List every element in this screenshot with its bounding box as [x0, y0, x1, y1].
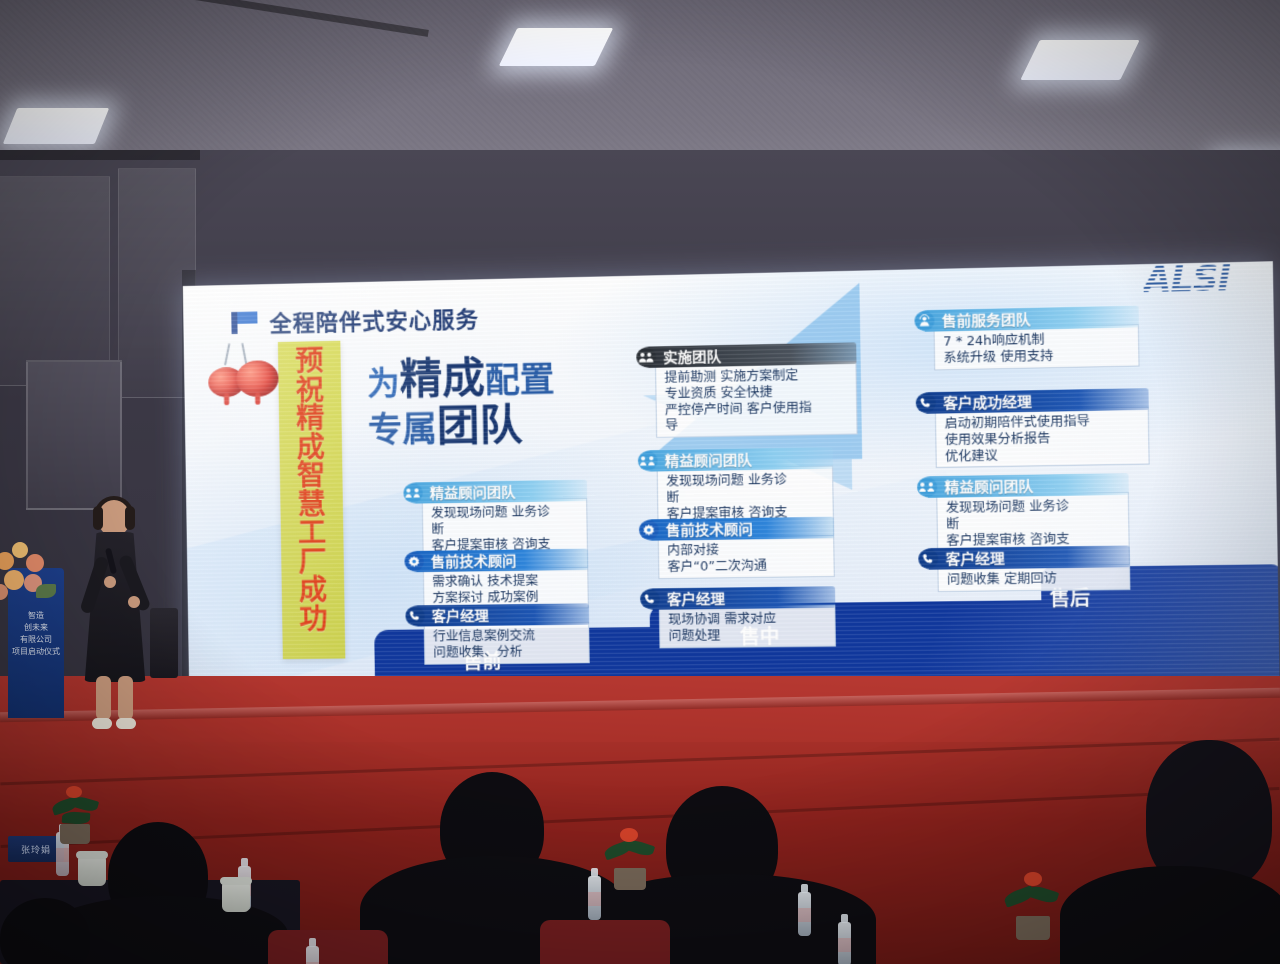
potted-plant — [600, 824, 660, 892]
plant-pot — [60, 824, 90, 844]
water-bottle — [306, 946, 319, 964]
water-bottle — [798, 892, 811, 936]
potted-plant — [48, 782, 104, 842]
plant-bloom — [1024, 872, 1042, 886]
tea-cup — [78, 856, 106, 886]
conference-photo-scene: 全程陪伴式安心服务 ALSI 预祝精成智慧工厂成功 为精成配置 专属团队 — [0, 0, 1280, 964]
audience-shoulders — [1060, 866, 1280, 964]
water-bottle — [588, 876, 601, 920]
audience-chair — [268, 930, 388, 964]
water-bottle — [838, 922, 851, 964]
tea-cup — [222, 882, 250, 912]
audience-chair — [540, 920, 670, 964]
plant-pot — [614, 868, 646, 890]
name-placard-text: 张玲娟 — [21, 843, 51, 856]
plant-bloom — [66, 786, 82, 798]
plant-leaf — [62, 811, 91, 825]
audience-foreground: 张玲娟 — [0, 0, 1280, 964]
potted-plant — [1000, 868, 1066, 942]
plant-bloom — [620, 828, 638, 842]
plant-leaf — [1027, 884, 1060, 906]
plant-pot — [1016, 916, 1050, 940]
